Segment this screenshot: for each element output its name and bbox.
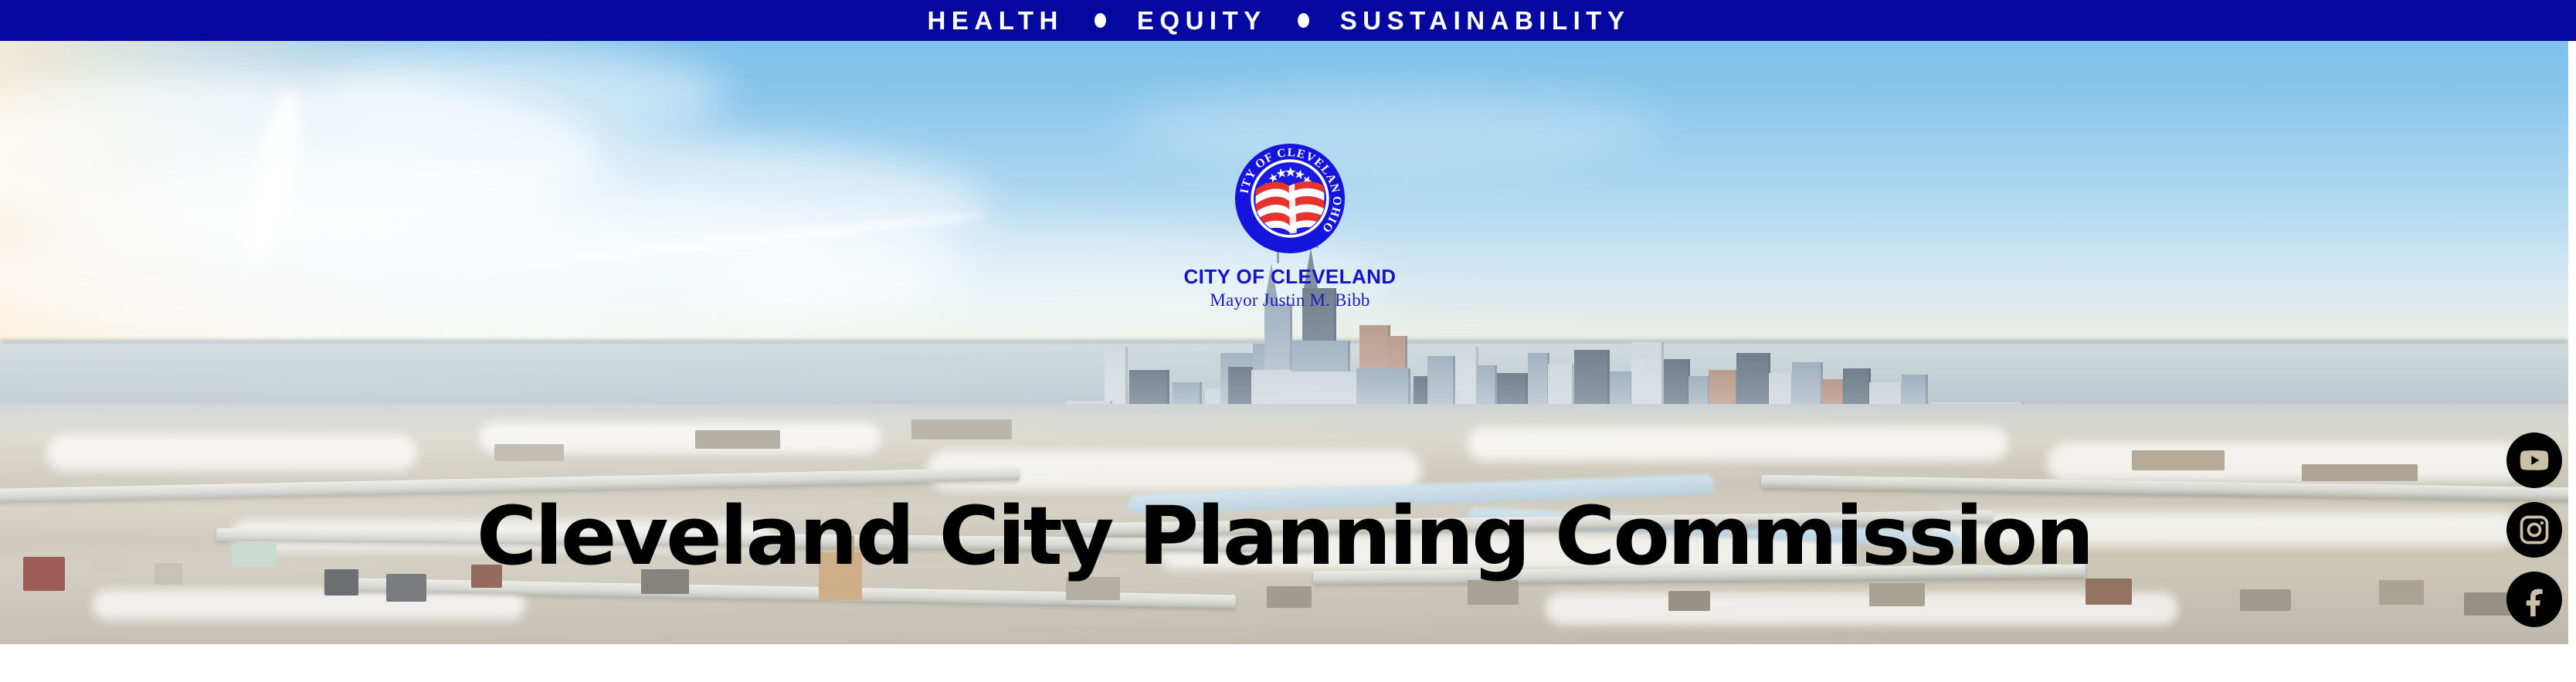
city-of-cleveland-seal-icon: CITY OF CLEVELAND OHIO bbox=[1233, 141, 1347, 256]
bottom-white-margin bbox=[0, 644, 2576, 682]
page-root: HEALTH EQUITY SUSTAINABILITY bbox=[0, 0, 2576, 682]
cloud-wisp bbox=[324, 49, 726, 141]
social-links-rail bbox=[2499, 433, 2570, 627]
tagline-inner: HEALTH EQUITY SUSTAINABILITY bbox=[928, 8, 1631, 33]
tagline-word-health: HEALTH bbox=[928, 8, 1064, 33]
tagline-bar: HEALTH EQUITY SUSTAINABILITY bbox=[0, 0, 2576, 41]
tagline-separator-dot-1 bbox=[1095, 13, 1106, 28]
mayor-name: Mayor Justin M. Bibb bbox=[1124, 290, 1456, 310]
page-title: Cleveland City Planning Commission bbox=[0, 496, 2568, 576]
hero-photo: CITY OF CLEVELAND OHIO CITY OF CLEVELAND… bbox=[0, 41, 2568, 644]
city-branding-block: CITY OF CLEVELAND OHIO CITY OF CLEVELAND… bbox=[1124, 141, 1456, 310]
tagline-word-equity: EQUITY bbox=[1137, 8, 1267, 33]
facebook-icon[interactable] bbox=[2506, 572, 2562, 627]
tagline-separator-dot-2 bbox=[1298, 13, 1309, 28]
city-organization-name: CITY OF CLEVELAND bbox=[1124, 266, 1456, 287]
tagline-word-sustainability: SUSTAINABILITY bbox=[1340, 8, 1631, 33]
youtube-icon[interactable] bbox=[2506, 433, 2562, 488]
instagram-icon[interactable] bbox=[2506, 502, 2562, 558]
